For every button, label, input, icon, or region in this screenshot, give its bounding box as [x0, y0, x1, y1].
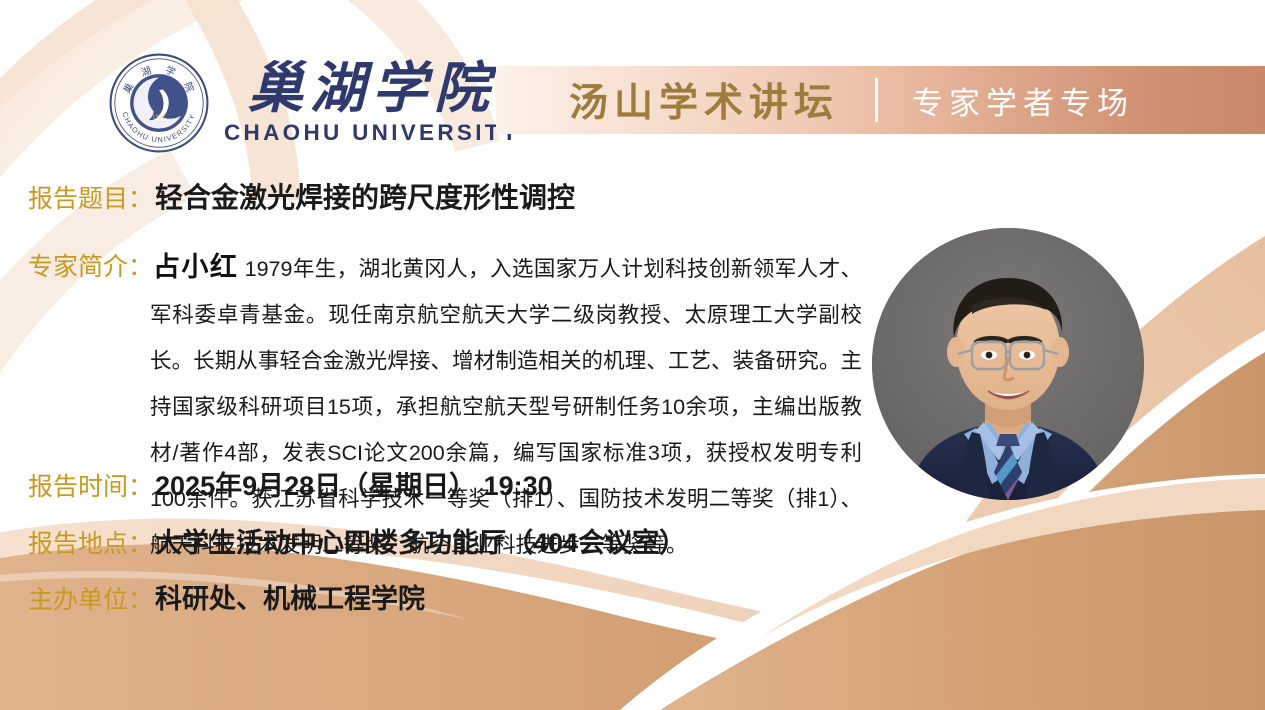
bio-body: 1979年生，湖北黄冈人，入选国家万人计划科技创新领军人才、军科委卓青基金。现任…: [150, 257, 862, 557]
topic-value: 轻合金激光焊接的跨尺度形性调控: [155, 176, 575, 216]
bio-label: 专家简介：: [28, 244, 153, 290]
row-topic: 报告题目： 轻合金激光焊接的跨尺度形性调控: [28, 176, 575, 216]
time-label: 报告时间：: [28, 467, 153, 503]
speaker-portrait-illustration: [872, 228, 1144, 500]
speaker-photo: [872, 228, 1144, 500]
speaker-name: 占小红: [153, 252, 238, 282]
place-label: 报告地点：: [28, 524, 153, 560]
row-time: 报告时间： 2025年9月28日（星期日） 19:30: [28, 464, 553, 503]
bio-paragraph: 占小红 1979年生，湖北黄冈人，入选国家万人计划科技创新领军人才、军科委卓青基…: [150, 244, 862, 568]
row-place: 报告地点： 大学生活动中心四楼多功能厅（404会议室）: [28, 521, 686, 560]
topic-label: 报告题目：: [28, 179, 153, 215]
host-label: 主办单位：: [28, 580, 153, 616]
host-value: 科研处、机械工程学院: [155, 577, 425, 616]
row-host: 主办单位： 科研处、机械工程学院: [28, 577, 425, 616]
row-bio: 专家简介： 占小红 1979年生，湖北黄冈人，入选国家万人计划科技创新领军人才、…: [28, 244, 858, 568]
time-value: 2025年9月28日（星期日） 19:30: [155, 464, 553, 503]
place-value: 大学生活动中心四楼多功能厅（404会议室）: [155, 521, 686, 560]
seminar-poster: 1977 巢 湖 学 院 CHAOHU UNIVERSITY 巢湖学院 CHAO…: [0, 0, 1265, 710]
